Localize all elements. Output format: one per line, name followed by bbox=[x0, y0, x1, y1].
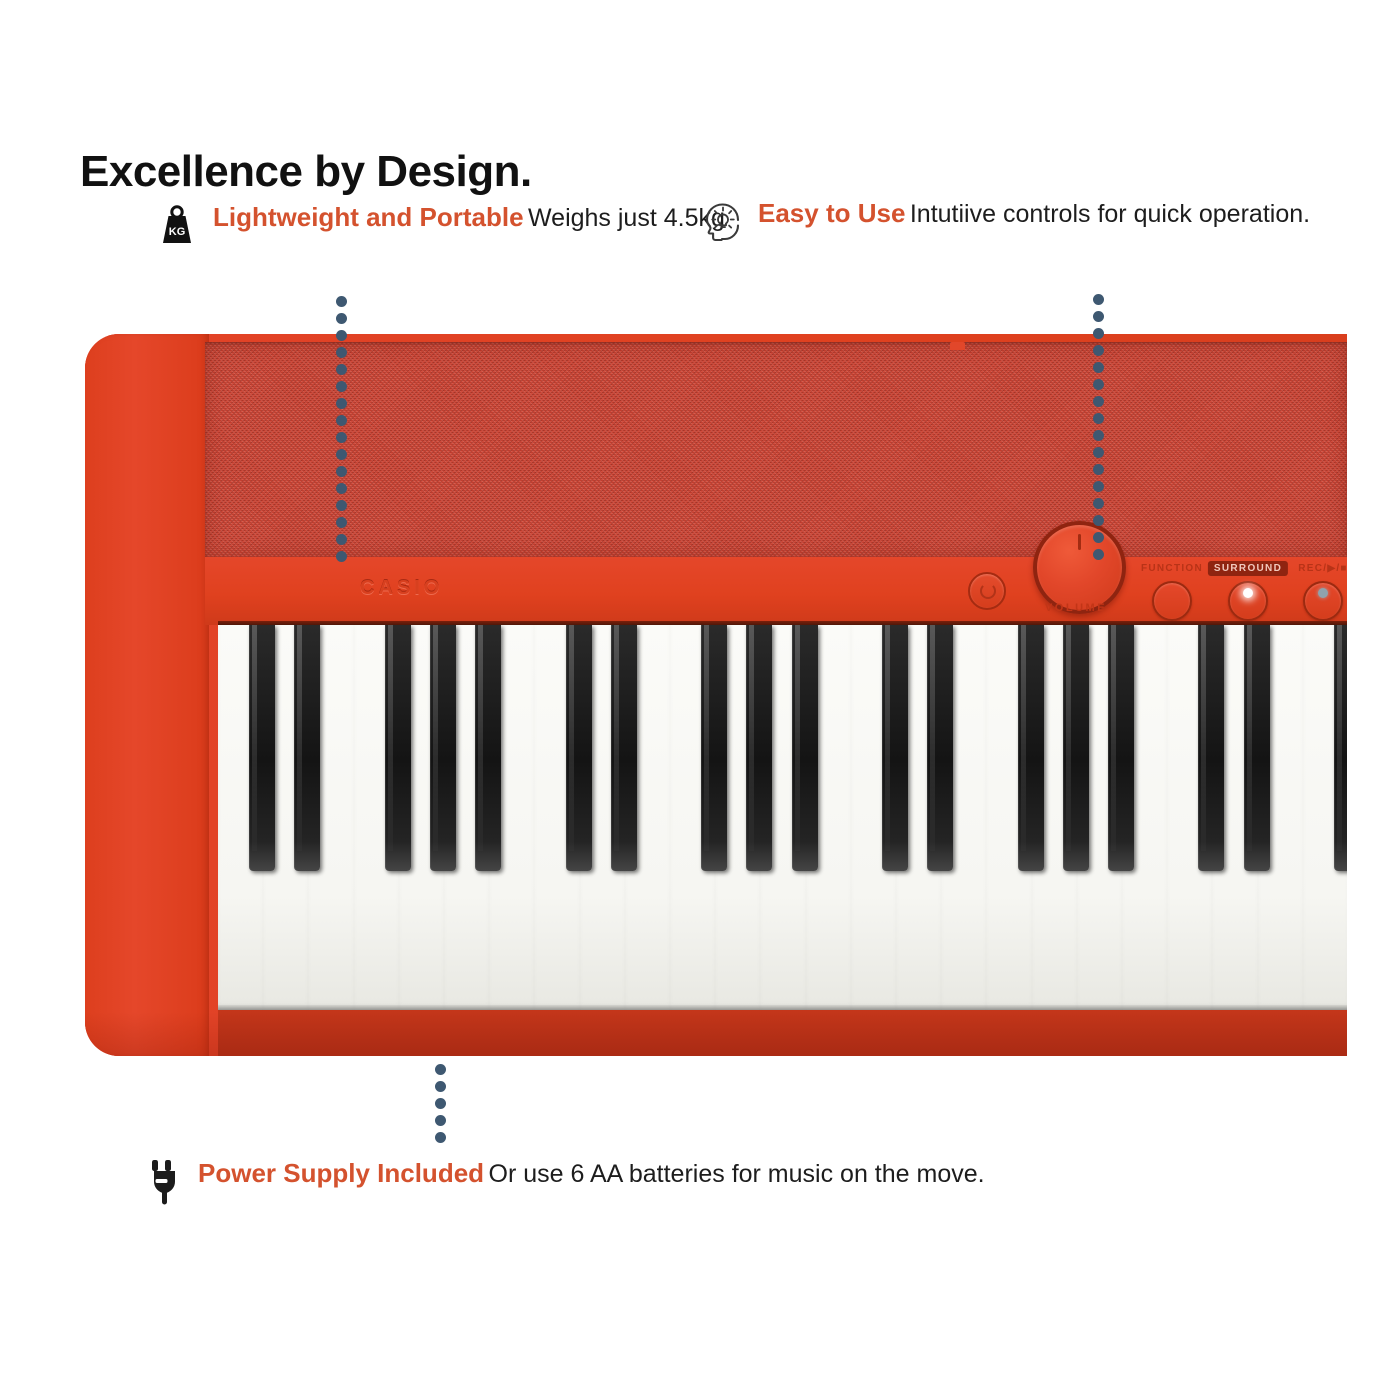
button-function-cap[interactable] bbox=[1152, 581, 1192, 621]
feature-power-title: Power Supply Included bbox=[198, 1158, 484, 1188]
leader-dot bbox=[1093, 549, 1104, 560]
leader-dot bbox=[336, 500, 347, 511]
black-key[interactable] bbox=[1244, 625, 1270, 871]
feature-power-supply: Power Supply Included Or use 6 AA batter… bbox=[140, 1158, 985, 1204]
leader-dot bbox=[1093, 328, 1104, 339]
feature-easy-to-use: Easy to Use Intutiive controls for quick… bbox=[700, 198, 1310, 244]
head-lightbulb-icon bbox=[700, 198, 744, 244]
leader-dot bbox=[435, 1098, 446, 1109]
leader-dot bbox=[1093, 515, 1104, 526]
black-key[interactable] bbox=[1198, 625, 1224, 871]
black-key[interactable] bbox=[294, 625, 320, 871]
led-rec bbox=[1318, 588, 1328, 598]
black-key[interactable] bbox=[1063, 625, 1089, 871]
black-key[interactable] bbox=[746, 625, 772, 871]
leader-dot bbox=[336, 296, 347, 307]
button-rec-cap[interactable] bbox=[1303, 581, 1343, 621]
button-function-label: FUNCTION bbox=[1141, 563, 1203, 574]
leader-line-power-supply bbox=[435, 1064, 446, 1148]
leader-dot bbox=[1093, 498, 1104, 509]
leader-dot bbox=[336, 381, 347, 392]
leader-dot bbox=[336, 415, 347, 426]
feature-lightweight: KG Lightweight and Portable Weighs just … bbox=[155, 202, 725, 248]
button-surround-cap[interactable] bbox=[1228, 581, 1268, 621]
black-key[interactable] bbox=[385, 625, 411, 871]
feature-easy-title: Easy to Use bbox=[758, 198, 905, 228]
black-key[interactable] bbox=[611, 625, 637, 871]
leader-dot bbox=[336, 364, 347, 375]
leader-dot bbox=[1093, 430, 1104, 441]
control-panel: CASIO VOLUME FUNCTION SURROUND REC/▶/■ bbox=[205, 557, 1347, 625]
button-rec-label: REC/▶/■ bbox=[1298, 563, 1347, 574]
leader-dot bbox=[336, 313, 347, 324]
leader-dot bbox=[435, 1115, 446, 1126]
leader-dot bbox=[435, 1132, 446, 1143]
black-key[interactable] bbox=[1018, 625, 1044, 871]
power-plug-icon bbox=[140, 1158, 184, 1204]
left-side-panel bbox=[85, 334, 209, 1056]
knob-indicator bbox=[1078, 534, 1081, 550]
leader-dot bbox=[1093, 311, 1104, 322]
black-key[interactable] bbox=[430, 625, 456, 871]
black-key[interactable] bbox=[249, 625, 275, 871]
grille-nub bbox=[950, 342, 965, 350]
leader-dot bbox=[336, 517, 347, 528]
volume-label: VOLUME bbox=[1027, 602, 1125, 614]
leader-dot bbox=[336, 551, 347, 562]
leader-dot bbox=[336, 449, 347, 460]
leader-dot bbox=[1093, 481, 1104, 492]
leader-dot bbox=[1093, 447, 1104, 458]
leader-dot bbox=[336, 483, 347, 494]
black-key[interactable] bbox=[927, 625, 953, 871]
black-key[interactable] bbox=[475, 625, 501, 871]
leader-dot bbox=[1093, 294, 1104, 305]
feature-easy-desc: Intutiive controls for quick operation. bbox=[910, 200, 1310, 228]
black-key[interactable] bbox=[566, 625, 592, 871]
leader-dot bbox=[336, 432, 347, 443]
button-surround-label: SURROUND bbox=[1208, 561, 1288, 576]
page-title: Excellence by Design. bbox=[80, 147, 532, 197]
leader-dot bbox=[336, 534, 347, 545]
page-root: Excellence by Design. CASIO VOLUME FUNCT… bbox=[0, 0, 1400, 1400]
power-button[interactable] bbox=[968, 572, 1006, 610]
leader-dot bbox=[1093, 413, 1104, 424]
black-key[interactable] bbox=[882, 625, 908, 871]
leader-dot bbox=[336, 466, 347, 477]
led-surround bbox=[1243, 588, 1253, 598]
leader-dot bbox=[1093, 396, 1104, 407]
leader-dot bbox=[1093, 464, 1104, 475]
casio-keyboard-image: CASIO VOLUME FUNCTION SURROUND REC/▶/■ bbox=[85, 334, 1347, 1056]
black-key[interactable] bbox=[792, 625, 818, 871]
feature-lightweight-desc: Weighs just 4.5kg bbox=[528, 204, 725, 232]
leader-dot bbox=[1093, 532, 1104, 543]
leader-dot bbox=[1093, 362, 1104, 373]
leader-dot bbox=[1093, 379, 1104, 390]
black-key[interactable] bbox=[1334, 625, 1347, 871]
leader-dot bbox=[435, 1064, 446, 1075]
black-key[interactable] bbox=[1108, 625, 1134, 871]
leader-dot bbox=[336, 398, 347, 409]
leader-dot bbox=[336, 330, 347, 341]
volume-knob[interactable] bbox=[1033, 521, 1126, 614]
leader-line-lightweight bbox=[336, 296, 347, 566]
feature-lightweight-title: Lightweight and Portable bbox=[213, 202, 524, 232]
kg-weight-icon: KG bbox=[155, 202, 199, 248]
speaker-grille-fabric bbox=[205, 342, 1347, 557]
svg-text:KG: KG bbox=[169, 226, 186, 238]
casio-logo: CASIO bbox=[360, 577, 443, 600]
leader-dot bbox=[1093, 345, 1104, 356]
leader-line-easy-to-use bbox=[1093, 294, 1104, 566]
black-key[interactable] bbox=[701, 625, 727, 871]
keybed bbox=[218, 625, 1347, 1010]
leader-dot bbox=[435, 1081, 446, 1092]
leader-dot bbox=[336, 347, 347, 358]
piano-keys[interactable] bbox=[218, 625, 1347, 1010]
body-bottom-shading bbox=[85, 1012, 1347, 1056]
feature-power-desc: Or use 6 AA batteries for music on the m… bbox=[489, 1160, 985, 1188]
